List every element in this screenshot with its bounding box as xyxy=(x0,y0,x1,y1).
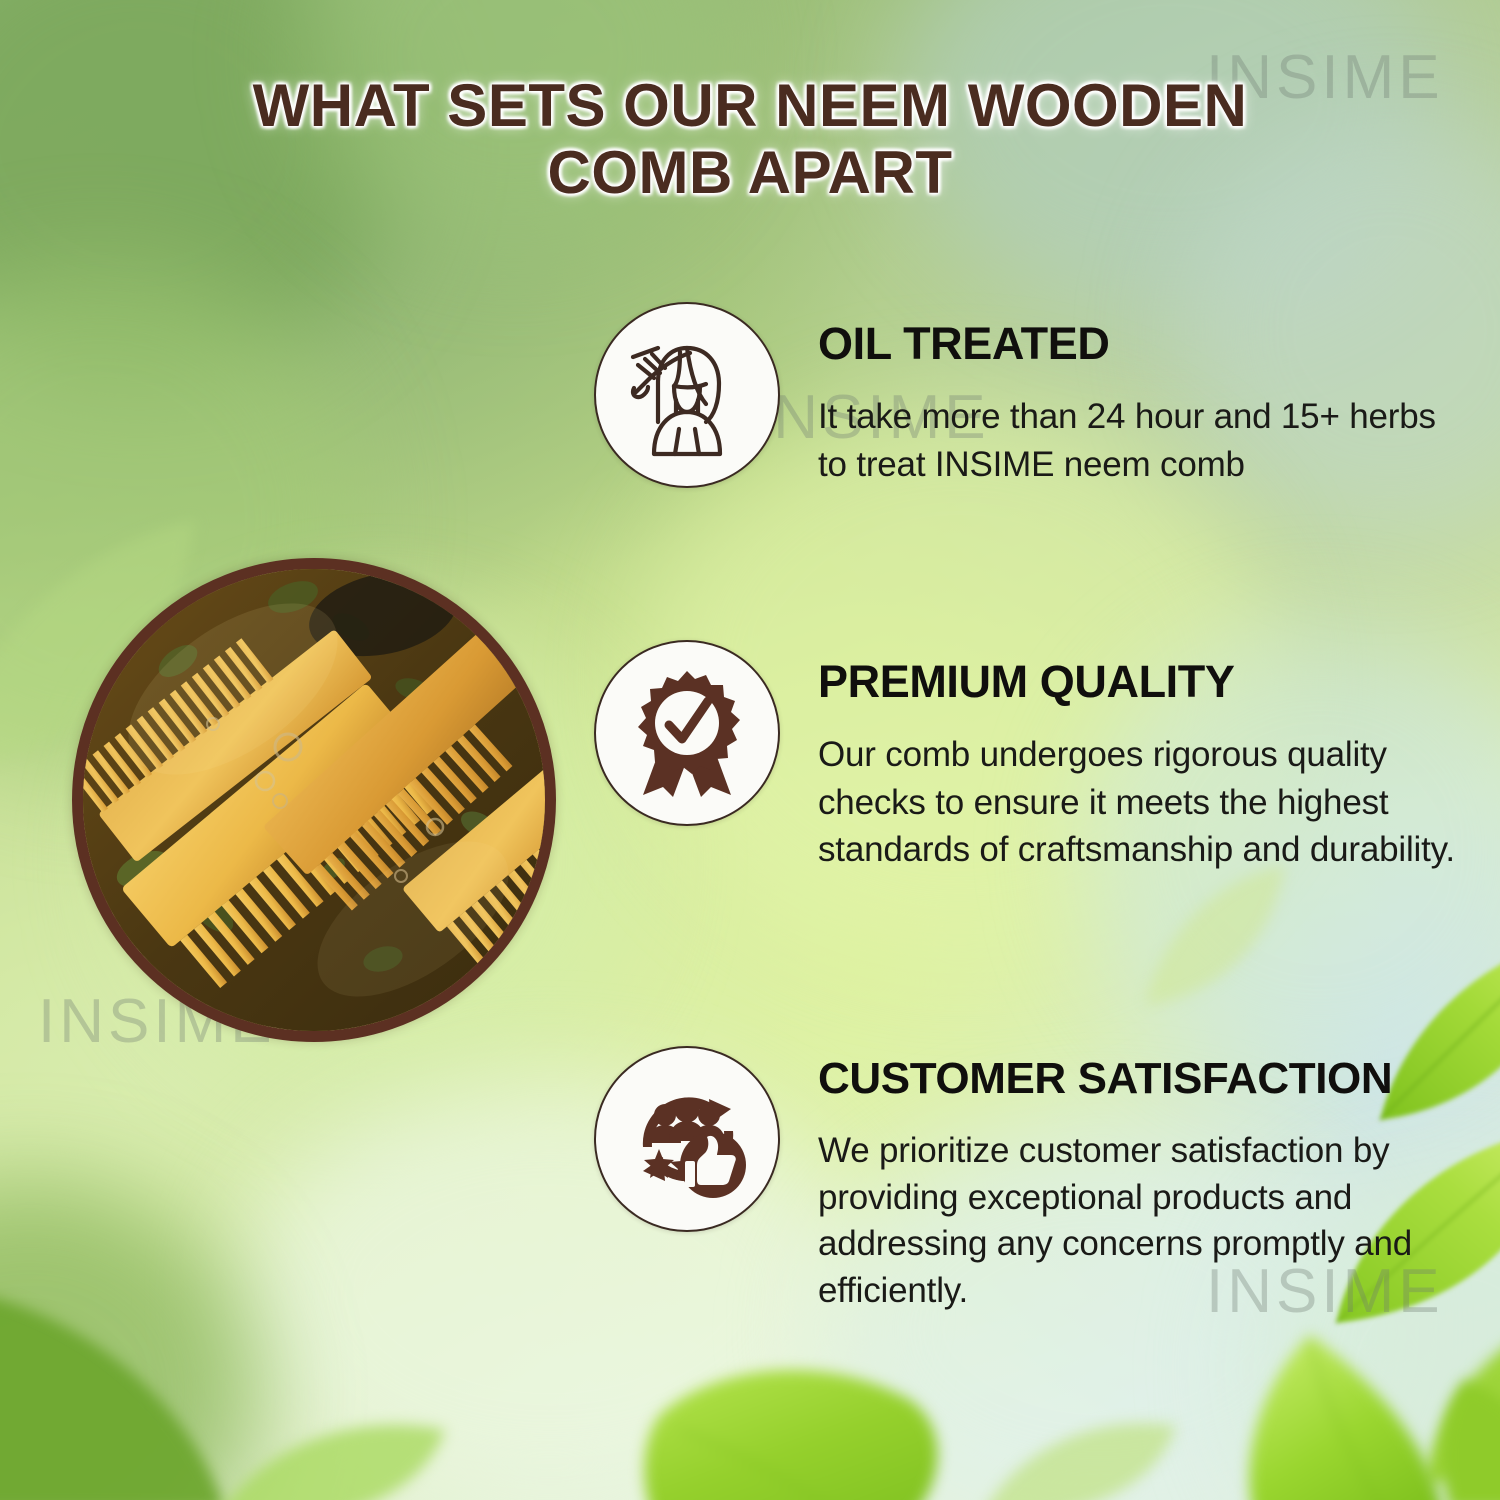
product-photo xyxy=(72,558,556,1042)
feature-text-block: OIL TREATED It take more than 24 hour an… xyxy=(780,302,1474,489)
leaf-decoration-icon xyxy=(1215,1335,1475,1500)
hair-comb-icon xyxy=(594,302,780,488)
leaf-decoration-icon xyxy=(1440,1370,1500,1500)
product-photo-image xyxy=(83,569,545,1031)
feature-description: We prioritize customer satisfaction by p… xyxy=(818,1128,1484,1314)
feature-item-premium-quality: PREMIUM QUALITY Our comb undergoes rigor… xyxy=(594,640,1474,873)
feature-item-oil-treated: OIL TREATED It take more than 24 hour an… xyxy=(594,302,1474,489)
customer-satisfaction-icon xyxy=(594,1046,780,1232)
feature-title: PREMIUM QUALITY xyxy=(818,658,1474,705)
leaf-decoration-icon xyxy=(210,1400,450,1500)
page-title-line-1: WHAT SETS OUR NEEM WOODEN xyxy=(150,72,1350,139)
feature-item-customer-satisfaction: CUSTOMER SATISFACTION We prioritize cust… xyxy=(594,1046,1484,1314)
leaf-decoration-icon xyxy=(1140,860,1290,1010)
feature-text-block: PREMIUM QUALITY Our comb undergoes rigor… xyxy=(780,640,1474,873)
leaf-decoration-icon xyxy=(640,1360,970,1500)
feature-description: It take more than 24 hour and 15+ herbs … xyxy=(818,393,1474,489)
feature-title: OIL TREATED xyxy=(818,320,1474,367)
feature-title: CUSTOMER SATISFACTION xyxy=(818,1056,1484,1102)
quality-badge-icon xyxy=(594,640,780,826)
feature-description: Our comb undergoes rigorous quality chec… xyxy=(818,731,1474,873)
leaf-decoration-icon xyxy=(980,1400,1180,1500)
page-title: WHAT SETS OUR NEEM WOODEN COMB APART xyxy=(150,72,1350,206)
feature-text-block: CUSTOMER SATISFACTION We prioritize cust… xyxy=(780,1046,1484,1314)
page-title-line-2: COMB APART xyxy=(150,139,1350,206)
